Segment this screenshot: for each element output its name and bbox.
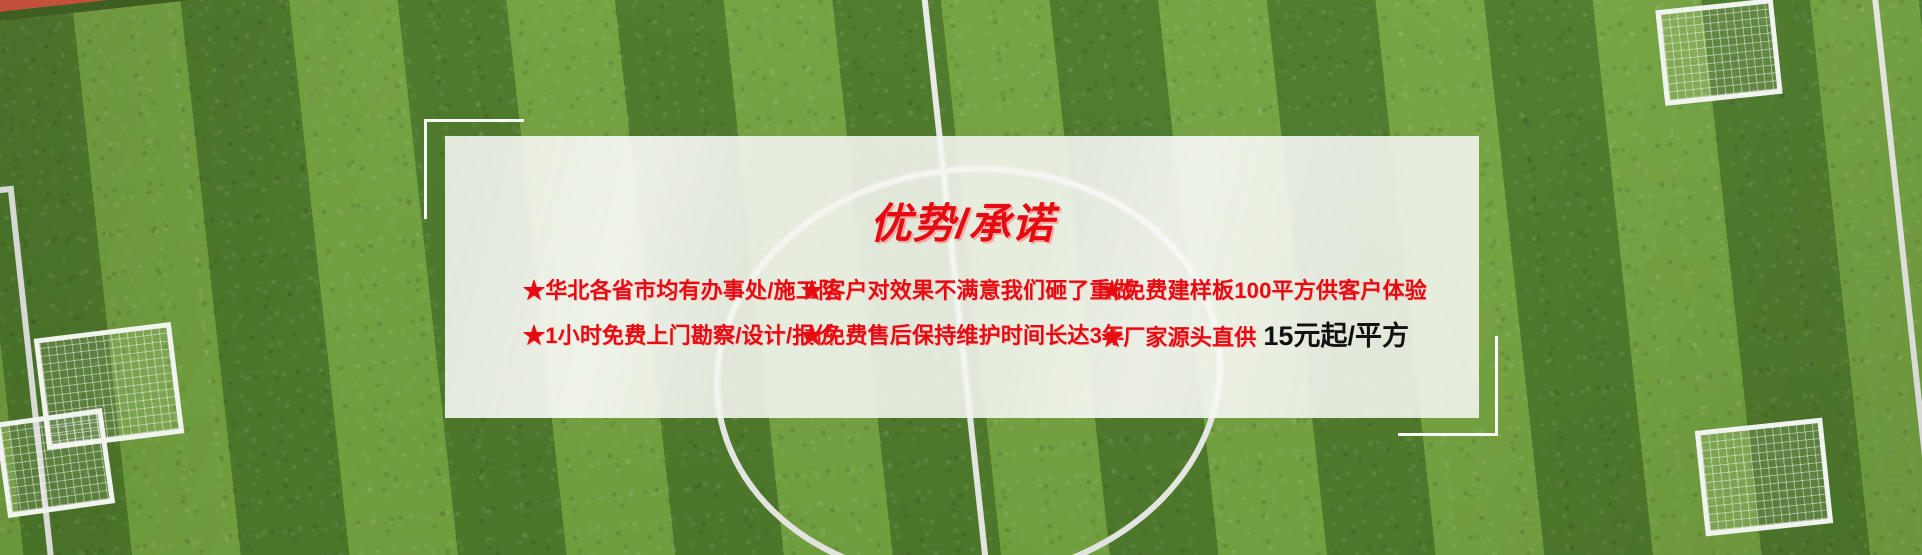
promo-point-2-3-text: ★厂家源头直供 [1101,325,1256,350]
promo-row: ★1小时免费上门勘察/设计/报价 ★免费售后保持维护时间长达3年 ★厂家源头直供… [445,311,1479,356]
price-highlight: 15元起/平方 [1263,321,1409,351]
promo-point-2-2: ★免费售后保持维护时间长达3年 [801,318,1101,350]
promo-point-1-2: ★客户对效果不满意我们砸了重做 [801,273,1101,305]
promo-point-1-1: ★华北各省市均有办事处/施工队 [523,273,801,305]
promo-point-2-3: ★厂家源头直供15元起/平方 [1101,314,1401,353]
promo-point-1-3: ★免费建样板100平方供客户体验 [1101,273,1401,305]
promo-row: ★华北各省市均有办事处/施工队 ★客户对效果不满意我们砸了重做 ★免费建样板10… [445,266,1479,311]
promo-point-1-3-text: ★免费建样板100平方供客户体验 [1101,278,1427,303]
promo-points-grid: ★华北各省市均有办事处/施工队 ★客户对效果不满意我们砸了重做 ★免费建样板10… [445,266,1479,356]
promo-panel: 优势/承诺 ★华北各省市均有办事处/施工队 ★客户对效果不满意我们砸了重做 ★免… [445,136,1479,418]
goal-net-mesh [1700,423,1827,531]
page-title: 优势/承诺 [445,190,1479,251]
goal-net-mesh [0,414,109,513]
goal-net-top-right [1655,0,1782,106]
goal-net-mesh [1661,4,1777,101]
promotional-banner: 优势/承诺 ★华北各省市均有办事处/施工队 ★客户对效果不满意我们砸了重做 ★免… [0,0,1922,555]
goal-net-bottom-right [1695,418,1833,537]
goal-net-bottom-left [0,408,115,518]
promo-point-2-1: ★1小时免费上门勘察/设计/报价 [523,318,801,350]
